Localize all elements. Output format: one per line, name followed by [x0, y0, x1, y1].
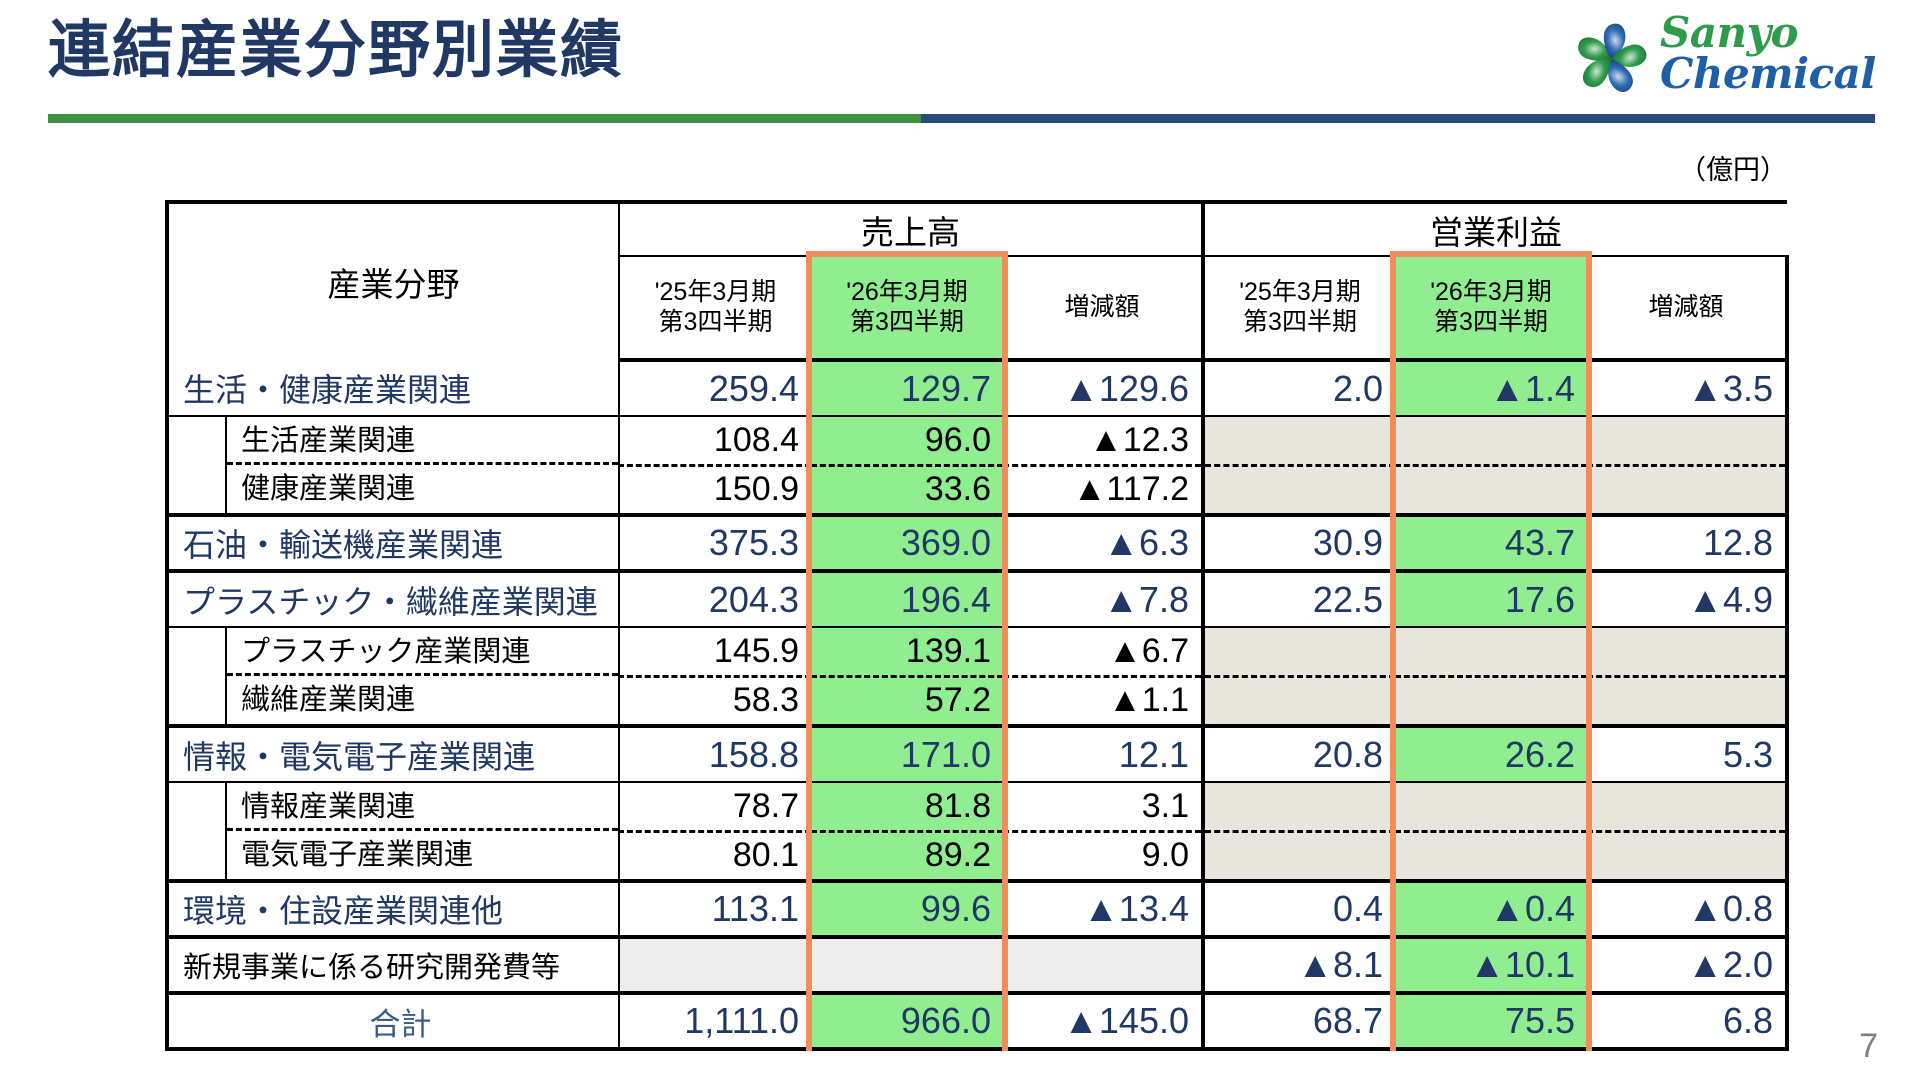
row-label: 生活産業関連 [227, 417, 618, 465]
cell-op-diff [1587, 676, 1787, 726]
cell-sales-current: 369.0 [811, 515, 1003, 571]
cell-sales-current: 129.7 [811, 360, 1003, 416]
row-label: 石油・輸送機産業関連 [167, 515, 619, 571]
cell-op-current [1395, 782, 1587, 831]
cell-sales-diff: ▲6.3 [1003, 515, 1203, 571]
cell-sales-current: 196.4 [811, 571, 1003, 627]
cell-sales-diff: 9.0 [1003, 831, 1203, 881]
cell-op-prev: 30.9 [1203, 515, 1395, 571]
cell-op-prev [1203, 465, 1395, 515]
subheader-line2: 第3四半期 [1395, 308, 1587, 338]
table-row: 石油・輸送機産業関連375.3369.0▲6.330.943.712.8 [167, 515, 1787, 571]
row-label: 合計 [167, 993, 619, 1049]
row-indent-divider [169, 417, 227, 465]
sanyo-chemical-logo: Sanyo Chemical [1568, 12, 1886, 104]
cell-op-prev: 20.8 [1203, 726, 1395, 782]
row-label: 情報産業関連 [227, 783, 618, 831]
cell-sales-prev: 58.3 [619, 676, 811, 726]
cell-op-current [1395, 416, 1587, 465]
row-label: 生活・健康産業関連 [167, 360, 619, 416]
row-label-cell: 情報産業関連 [167, 782, 619, 831]
table-body: 生活・健康産業関連259.4129.7▲129.62.0▲1.4▲3.5生活産業… [167, 360, 1787, 1049]
industry-results-table-wrap: 産業分野 売上高 営業利益 '25年3月期 第3四半期 '26年3月期 第3四半… [165, 200, 1785, 1051]
row-label: 情報・電気電子産業関連 [167, 726, 619, 782]
table-head: 産業分野 売上高 営業利益 '25年3月期 第3四半期 '26年3月期 第3四半… [167, 202, 1787, 360]
table-row: プラスチック・繊維産業関連204.3196.4▲7.822.517.6▲4.9 [167, 571, 1787, 627]
cell-sales-prev: 145.9 [619, 627, 811, 676]
cell-op-prev [1203, 416, 1395, 465]
subheader-op-prev: '25年3月期 第3四半期 [1203, 256, 1395, 360]
cell-sales-current [811, 937, 1003, 993]
subheader-line2: 第3四半期 [1205, 308, 1395, 338]
row-label: 電気電子産業関連 [227, 831, 618, 879]
row-label: 環境・住設産業関連他 [167, 881, 619, 937]
sanyo-pinwheel-mark [1568, 18, 1654, 100]
subheader-line2: 第3四半期 [620, 308, 811, 338]
logo-word-sanyo: Sanyo [1660, 12, 1876, 53]
cell-sales-diff: ▲13.4 [1003, 881, 1203, 937]
logo-word-chemical: Chemical [1660, 53, 1876, 94]
row-label: 繊維産業関連 [227, 676, 618, 724]
table-row: 情報・電気電子産業関連158.8171.012.120.826.25.3 [167, 726, 1787, 782]
cell-op-prev: 2.0 [1203, 360, 1395, 416]
table-row: 健康産業関連150.933.6▲117.2 [167, 465, 1787, 515]
cell-op-current [1395, 627, 1587, 676]
subheader-op-diff: 増減額 [1587, 256, 1787, 360]
cell-sales-current: 99.6 [811, 881, 1003, 937]
cell-op-prev [1203, 831, 1395, 881]
cell-sales-current: 81.8 [811, 782, 1003, 831]
column-header-industry: 産業分野 [167, 202, 619, 360]
cell-op-prev: 0.4 [1203, 881, 1395, 937]
cell-sales-prev: 158.8 [619, 726, 811, 782]
cell-sales-diff: ▲6.7 [1003, 627, 1203, 676]
cell-op-current [1395, 676, 1587, 726]
cell-op-prev [1203, 676, 1395, 726]
subheader-line1: '25年3月期 [1205, 278, 1395, 308]
cell-op-diff [1587, 782, 1787, 831]
cell-sales-current: 171.0 [811, 726, 1003, 782]
cell-op-current: 17.6 [1395, 571, 1587, 627]
row-indent-divider [169, 783, 227, 831]
cell-op-diff [1587, 627, 1787, 676]
column-group-sales: 売上高 [619, 202, 1203, 256]
cell-op-current [1395, 831, 1587, 881]
cell-op-prev: ▲8.1 [1203, 937, 1395, 993]
cell-sales-diff: 3.1 [1003, 782, 1203, 831]
cell-sales-diff: ▲117.2 [1003, 465, 1203, 515]
row-label: 新規事業に係る研究開発費等 [167, 937, 619, 993]
subheader-line1: 増減額 [1003, 293, 1201, 323]
row-indent-divider [169, 676, 227, 724]
table-row: プラスチック産業関連145.9139.1▲6.7 [167, 627, 1787, 676]
subheader-line2: 第3四半期 [811, 308, 1003, 338]
cell-op-diff: 5.3 [1587, 726, 1787, 782]
cell-sales-prev: 204.3 [619, 571, 811, 627]
cell-op-diff [1587, 416, 1787, 465]
row-label: プラスチック産業関連 [227, 628, 618, 676]
cell-sales-current: 89.2 [811, 831, 1003, 881]
table-row: 新規事業に係る研究開発費等▲8.1▲10.1▲2.0 [167, 937, 1787, 993]
subheader-sales-diff: 増減額 [1003, 256, 1203, 360]
cell-sales-diff: ▲12.3 [1003, 416, 1203, 465]
row-label-cell: 電気電子産業関連 [167, 831, 619, 881]
cell-op-prev [1203, 782, 1395, 831]
row-label-cell: 健康産業関連 [167, 465, 619, 515]
cell-op-current: 26.2 [1395, 726, 1587, 782]
table-row: 繊維産業関連58.357.2▲1.1 [167, 676, 1787, 726]
header-rule-green [48, 114, 921, 123]
cell-sales-prev: 375.3 [619, 515, 811, 571]
cell-op-diff [1587, 465, 1787, 515]
unit-label: （億円） [0, 148, 1787, 187]
cell-op-prev: 68.7 [1203, 993, 1395, 1049]
cell-sales-diff: ▲7.8 [1003, 571, 1203, 627]
cell-sales-diff: ▲129.6 [1003, 360, 1203, 416]
page-title: 連結産業分野別業績 [48, 12, 624, 90]
cell-sales-prev: 150.9 [619, 465, 811, 515]
subheader-sales-current: '26年3月期 第3四半期 [811, 256, 1003, 360]
cell-sales-diff: ▲145.0 [1003, 993, 1203, 1049]
cell-sales-current: 96.0 [811, 416, 1003, 465]
table-row: 合計1,111.0966.0▲145.068.775.56.8 [167, 993, 1787, 1049]
column-group-operating-profit: 営業利益 [1203, 202, 1787, 256]
cell-sales-prev: 259.4 [619, 360, 811, 416]
subheader-line1: '26年3月期 [1395, 278, 1587, 308]
row-label: 健康産業関連 [227, 465, 618, 513]
row-indent-divider [169, 831, 227, 879]
industry-results-table: 産業分野 売上高 営業利益 '25年3月期 第3四半期 '26年3月期 第3四半… [165, 200, 1789, 1051]
cell-sales-diff: 12.1 [1003, 726, 1203, 782]
cell-sales-current: 139.1 [811, 627, 1003, 676]
cell-sales-current: 57.2 [811, 676, 1003, 726]
row-label-cell: プラスチック産業関連 [167, 627, 619, 676]
subheader-line1: '26年3月期 [811, 278, 1003, 308]
cell-sales-current: 33.6 [811, 465, 1003, 515]
row-label-cell: 繊維産業関連 [167, 676, 619, 726]
cell-sales-diff [1003, 937, 1203, 993]
cell-op-current: 43.7 [1395, 515, 1587, 571]
cell-op-diff: ▲3.5 [1587, 360, 1787, 416]
header-row-groups: 産業分野 売上高 営業利益 [167, 202, 1787, 256]
cell-op-prev [1203, 627, 1395, 676]
table-row: 電気電子産業関連80.189.29.0 [167, 831, 1787, 881]
cell-sales-prev: 1,111.0 [619, 993, 811, 1049]
cell-sales-prev: 113.1 [619, 881, 811, 937]
subheader-op-current: '26年3月期 第3四半期 [1395, 256, 1587, 360]
header-rule-navy [921, 114, 1875, 123]
cell-op-prev: 22.5 [1203, 571, 1395, 627]
cell-op-current [1395, 465, 1587, 515]
cell-sales-prev: 78.7 [619, 782, 811, 831]
cell-op-diff: ▲4.9 [1587, 571, 1787, 627]
subheader-sales-prev: '25年3月期 第3四半期 [619, 256, 811, 360]
cell-sales-current: 966.0 [811, 993, 1003, 1049]
cell-op-diff: 12.8 [1587, 515, 1787, 571]
cell-op-diff [1587, 831, 1787, 881]
cell-sales-diff: ▲1.1 [1003, 676, 1203, 726]
row-label-cell: 生活産業関連 [167, 416, 619, 465]
cell-op-current: ▲10.1 [1395, 937, 1587, 993]
table-row: 生活・健康産業関連259.4129.7▲129.62.0▲1.4▲3.5 [167, 360, 1787, 416]
row-indent-divider [169, 465, 227, 513]
row-label: プラスチック・繊維産業関連 [167, 571, 619, 627]
cell-op-diff: 6.8 [1587, 993, 1787, 1049]
cell-op-current: 75.5 [1395, 993, 1587, 1049]
row-indent-divider [169, 628, 227, 676]
cell-op-diff: ▲2.0 [1587, 937, 1787, 993]
page-number: 7 [1859, 1027, 1878, 1066]
cell-op-current: ▲1.4 [1395, 360, 1587, 416]
cell-sales-prev: 80.1 [619, 831, 811, 881]
cell-sales-prev [619, 937, 811, 993]
cell-op-current: ▲0.4 [1395, 881, 1587, 937]
table-row: 情報産業関連78.781.83.1 [167, 782, 1787, 831]
cell-sales-prev: 108.4 [619, 416, 811, 465]
subheader-line1: '25年3月期 [620, 278, 811, 308]
table-row: 環境・住設産業関連他113.199.6▲13.40.4▲0.4▲0.8 [167, 881, 1787, 937]
table-row: 生活産業関連108.496.0▲12.3 [167, 416, 1787, 465]
subheader-line1: 増減額 [1587, 293, 1785, 323]
cell-op-diff: ▲0.8 [1587, 881, 1787, 937]
